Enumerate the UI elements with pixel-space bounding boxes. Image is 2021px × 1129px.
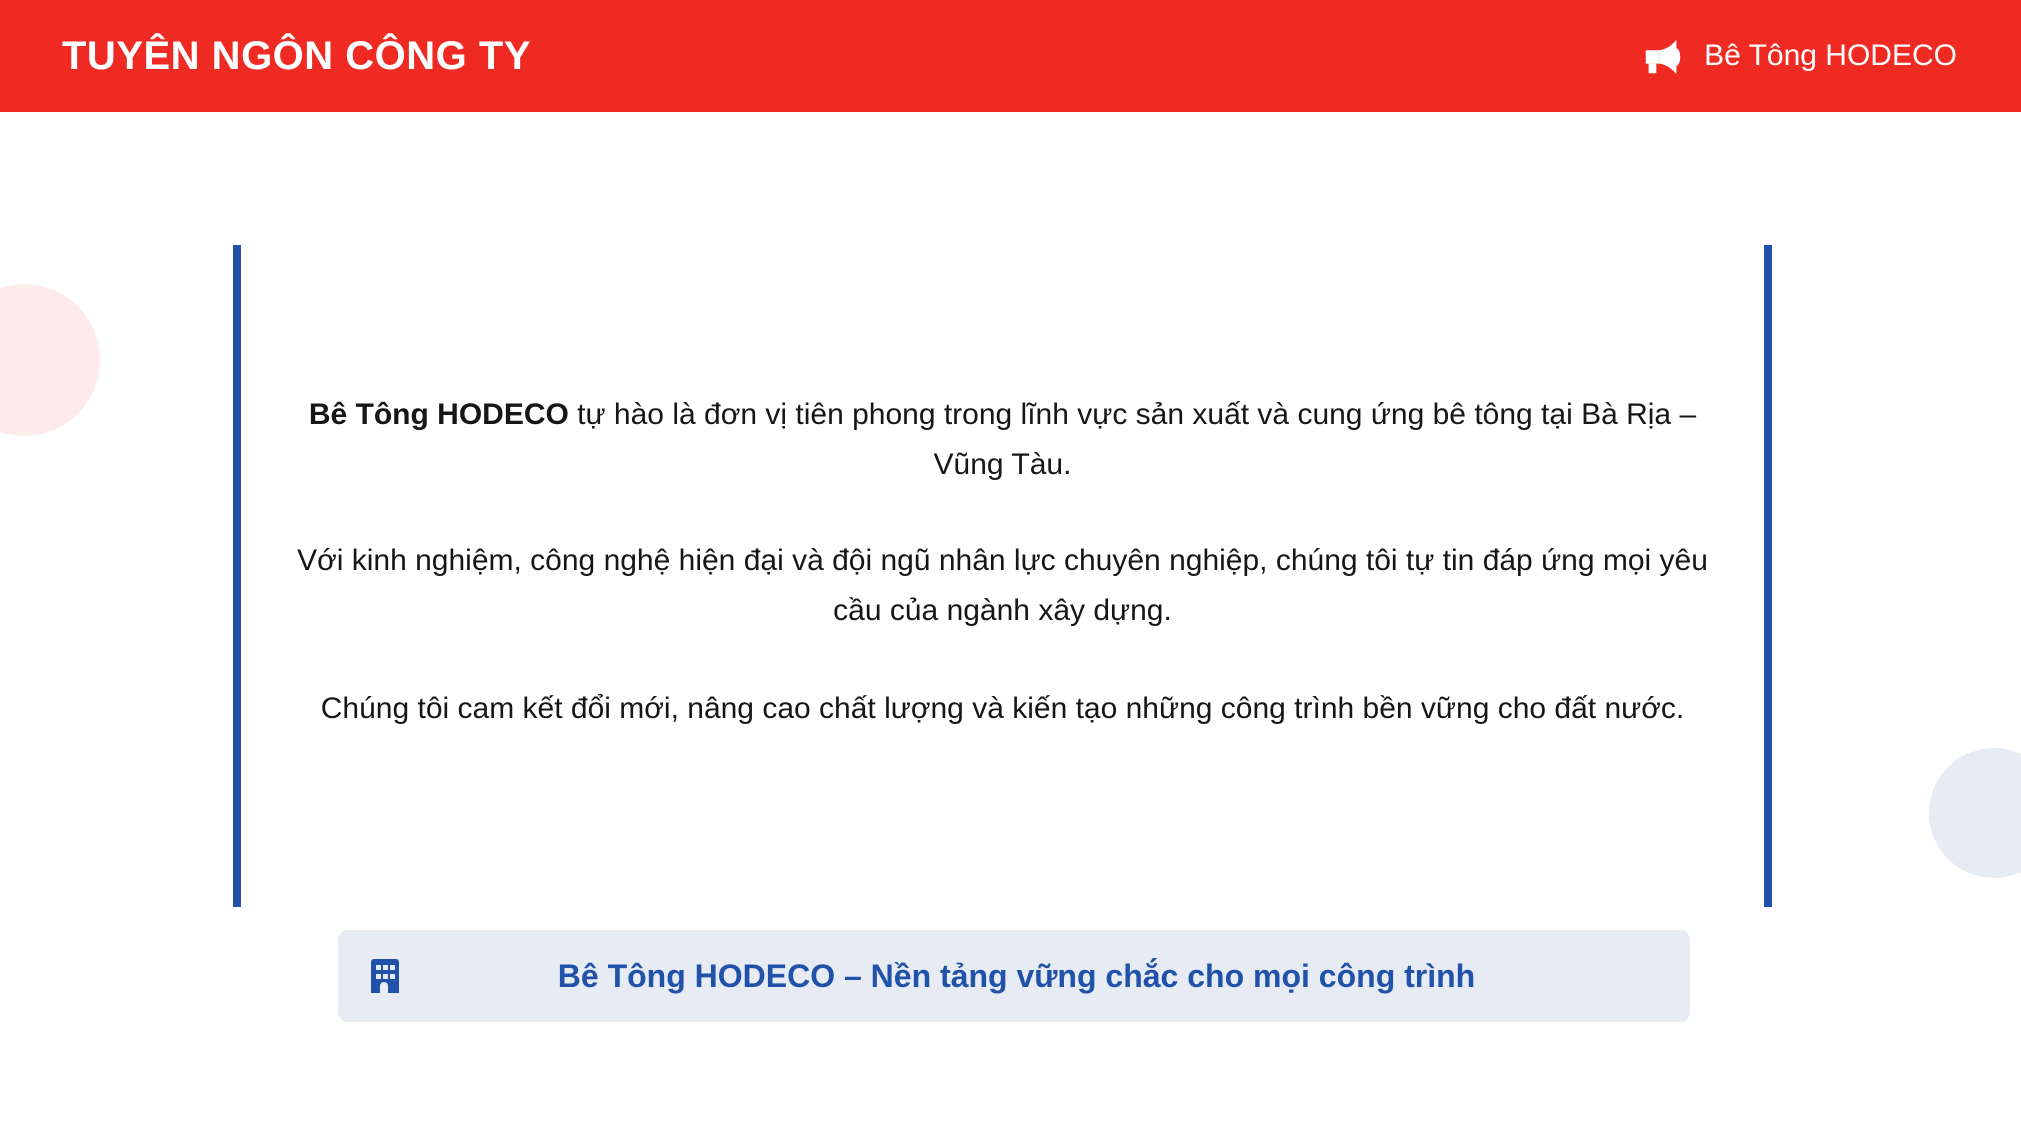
brand-label: Bê Tông HODECO xyxy=(1704,41,1957,71)
tagline-banner: Bê Tông HODECO – Nền tảng vững chắc cho … xyxy=(338,930,1690,1022)
megaphone-icon xyxy=(1640,33,1686,79)
statement-frame: Bê Tông HODECO tự hào là đơn vị tiên pho… xyxy=(233,245,1772,907)
paragraph-1: Bê Tông HODECO tự hào là đơn vị tiên pho… xyxy=(281,390,1724,490)
tagline-text: Bê Tông HODECO – Nền tảng vững chắc cho … xyxy=(403,960,1690,992)
slide-root: TUYÊN NGÔN CÔNG TY Bê Tông HODECO Bê Tôn… xyxy=(0,0,2021,1129)
paragraph-1-rest: tự hào là đơn vị tiên phong trong lĩnh v… xyxy=(569,398,1696,481)
decorative-circle-left xyxy=(0,284,100,436)
statement-body: Bê Tông HODECO tự hào là đơn vị tiên pho… xyxy=(241,245,1764,907)
page-header: TUYÊN NGÔN CÔNG TY Bê Tông HODECO xyxy=(0,0,2021,112)
brand-lockup: Bê Tông HODECO xyxy=(1640,33,1957,79)
accent-bar-left xyxy=(233,245,241,907)
page-title: TUYÊN NGÔN CÔNG TY xyxy=(62,36,531,76)
paragraph-3: Chúng tôi cam kết đổi mới, nâng cao chất… xyxy=(281,684,1724,734)
paragraph-1-lead: Bê Tông HODECO xyxy=(309,398,569,431)
building-icon xyxy=(367,956,403,996)
accent-bar-right xyxy=(1764,245,1772,907)
paragraph-2: Với kinh nghiệm, công nghệ hiện đại và đ… xyxy=(281,536,1724,636)
decorative-circle-right xyxy=(1929,748,2021,878)
